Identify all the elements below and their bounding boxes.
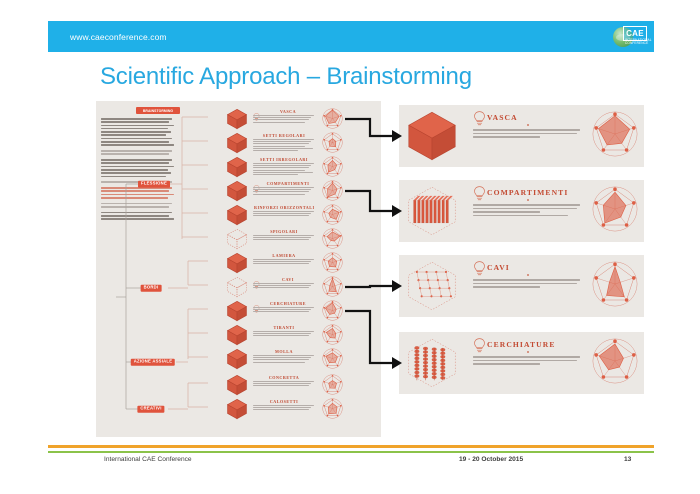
panel-shape-icon bbox=[405, 184, 459, 238]
text-line bbox=[253, 239, 309, 240]
branch-label-azione-assiale[interactable]: AZIONE ASSIALE bbox=[131, 359, 175, 366]
radar-chart bbox=[321, 131, 345, 154]
infographic-item-title: SPIGOLARI bbox=[254, 229, 314, 234]
radar-chart bbox=[321, 107, 345, 130]
text-line bbox=[253, 119, 309, 120]
cube-icon bbox=[226, 132, 248, 153]
infographic-item[interactable]: CERCHIATURE bbox=[226, 299, 381, 323]
branch-label-bordi[interactable]: BORDI bbox=[141, 285, 162, 292]
slide-content: BRAINSTORMING bbox=[96, 101, 644, 437]
infographic-item-title: VASCA bbox=[258, 109, 318, 114]
footer-date: 19 - 20 October 2015 bbox=[459, 456, 523, 463]
text-line bbox=[473, 136, 540, 138]
text-line bbox=[253, 362, 305, 363]
text-line bbox=[473, 360, 577, 362]
text-line bbox=[253, 409, 309, 410]
text-line bbox=[253, 335, 309, 336]
lightbulb-icon bbox=[473, 338, 486, 353]
infographic-item[interactable]: TIRANTI bbox=[226, 323, 381, 347]
infographic-item-title: SETTI IRREGOLARI bbox=[254, 157, 314, 162]
branch-label-flessione[interactable]: FLESSIONE bbox=[138, 181, 170, 188]
text-line bbox=[253, 139, 314, 140]
infographic-item-text bbox=[253, 331, 315, 338]
detail-panel[interactable]: VASCA bbox=[399, 105, 644, 167]
text-line bbox=[253, 333, 311, 334]
text-line bbox=[253, 170, 305, 171]
radar-chart bbox=[321, 251, 345, 274]
text-line bbox=[253, 285, 311, 286]
branch-label-creativi[interactable]: CREATIVI bbox=[137, 406, 164, 413]
cube-icon bbox=[226, 300, 248, 321]
slide-canvas: www.caeconference.com CAE INTERNATIONAL … bbox=[0, 0, 700, 494]
text-line bbox=[253, 259, 314, 260]
text-line bbox=[253, 148, 313, 149]
panel-body-text bbox=[473, 204, 581, 218]
panel-body-text bbox=[473, 129, 581, 140]
infographic-item-text bbox=[253, 139, 315, 152]
text-line bbox=[253, 309, 311, 310]
cube-icon bbox=[226, 276, 248, 297]
footer-page-number: 13 bbox=[624, 456, 631, 463]
infographic-item[interactable]: VASCA bbox=[226, 107, 381, 131]
infographic-item[interactable]: LAMIERA bbox=[226, 251, 381, 275]
text-line bbox=[473, 356, 580, 358]
text-line bbox=[253, 215, 309, 216]
infographic-item-title: COMPARTIMENTI bbox=[258, 181, 318, 186]
radar-chart bbox=[321, 323, 345, 346]
text-line bbox=[253, 165, 311, 166]
text-line bbox=[253, 191, 309, 192]
detail-panel[interactable]: COMPARTIMENTI bbox=[399, 180, 644, 242]
radar-chart bbox=[321, 155, 345, 178]
infographic-item-title: CONCRETTA bbox=[254, 375, 314, 380]
radar-chart bbox=[321, 227, 345, 250]
text-line bbox=[473, 363, 540, 365]
text-line bbox=[253, 359, 309, 360]
text-line bbox=[253, 381, 314, 382]
text-line bbox=[253, 146, 305, 147]
panel-shape-icon bbox=[405, 109, 459, 163]
text-line bbox=[253, 115, 314, 116]
text-line bbox=[253, 331, 314, 332]
text-line bbox=[253, 357, 311, 358]
text-line bbox=[253, 287, 309, 288]
infographic-item-title: MOLLA bbox=[254, 349, 314, 354]
cube-icon bbox=[226, 108, 248, 129]
text-line bbox=[253, 283, 314, 284]
text-line bbox=[253, 122, 305, 123]
text-line bbox=[253, 150, 298, 151]
lightbulb-icon bbox=[473, 111, 486, 126]
text-line bbox=[253, 213, 311, 214]
text-line bbox=[253, 187, 314, 188]
infographic-item-title: CAVI bbox=[258, 277, 318, 282]
infographic-item-text bbox=[253, 259, 315, 266]
cae-logo: CAE INTERNATIONAL CONFERENCE bbox=[612, 24, 646, 50]
text-line bbox=[253, 407, 311, 408]
infographic-item-title: CERCHIATURE bbox=[258, 301, 318, 306]
cube-icon bbox=[226, 204, 248, 225]
panel-title: CAVI bbox=[487, 263, 592, 272]
infographic-item-title: SETTI REGOLARI bbox=[254, 133, 314, 138]
radar-chart bbox=[321, 275, 345, 298]
lightbulb-icon bbox=[473, 186, 486, 201]
text-line bbox=[253, 189, 311, 190]
text-line bbox=[253, 143, 309, 144]
infographic-item-text bbox=[253, 405, 315, 412]
cube-icon bbox=[226, 156, 248, 177]
text-line bbox=[253, 211, 314, 212]
text-line bbox=[253, 235, 314, 236]
infographic-item-title: LAMIERA bbox=[254, 253, 314, 258]
text-line bbox=[253, 163, 314, 164]
infographic-item[interactable]: SETTI IRREGOLARI bbox=[226, 155, 381, 179]
infographic-item[interactable]: CONCRETTA bbox=[226, 373, 381, 397]
cube-icon bbox=[226, 398, 248, 419]
text-line bbox=[253, 141, 311, 142]
detail-panel[interactable]: CAVI bbox=[399, 255, 644, 317]
text-line bbox=[253, 174, 298, 175]
cube-icon bbox=[226, 348, 248, 369]
text-line bbox=[473, 133, 577, 135]
text-line bbox=[253, 167, 309, 168]
radar-chart bbox=[321, 373, 345, 396]
panel-body-text bbox=[473, 279, 581, 290]
detail-panel[interactable]: CERCHIATURE bbox=[399, 332, 644, 394]
infographic-item[interactable]: CAVI bbox=[226, 275, 381, 299]
panel-title: COMPARTIMENTI bbox=[487, 188, 592, 197]
text-line bbox=[253, 263, 309, 264]
text-line bbox=[253, 237, 311, 238]
footer-conference-name: International CAE Conference bbox=[104, 456, 192, 463]
radar-chart bbox=[321, 347, 345, 370]
radar-chart bbox=[321, 179, 345, 202]
panel-title: VASCA bbox=[487, 113, 592, 122]
radar-chart bbox=[589, 183, 641, 238]
panel-title-dot bbox=[527, 199, 529, 201]
radar-chart bbox=[321, 397, 345, 420]
radar-chart bbox=[589, 335, 641, 390]
infographic-item[interactable]: COMPARTIMENTI bbox=[226, 179, 381, 203]
lightbulb-icon bbox=[473, 261, 486, 276]
text-line bbox=[473, 286, 540, 288]
text-line bbox=[473, 211, 540, 213]
panel-shape-icon bbox=[405, 336, 459, 390]
text-line bbox=[473, 279, 580, 281]
cube-icon bbox=[226, 252, 248, 273]
text-line bbox=[253, 307, 314, 308]
infographic-item-text bbox=[253, 115, 315, 124]
panel-title: CERCHIATURE bbox=[487, 340, 592, 349]
cube-icon bbox=[226, 324, 248, 345]
infographic-item-title: TIRANTI bbox=[254, 325, 314, 330]
panel-title-dot bbox=[527, 274, 529, 276]
text-line bbox=[253, 355, 314, 356]
panel-title-dot bbox=[527, 351, 529, 353]
radar-chart bbox=[321, 299, 345, 322]
header-bar: www.caeconference.com CAE INTERNATIONAL … bbox=[48, 21, 654, 52]
radar-chart bbox=[589, 258, 641, 313]
header-url[interactable]: www.caeconference.com bbox=[70, 32, 167, 42]
text-line bbox=[253, 261, 311, 262]
text-line bbox=[253, 385, 309, 386]
infographic-item-text bbox=[253, 381, 315, 388]
infographic-item-text bbox=[253, 307, 315, 314]
infographic-item-text bbox=[253, 283, 315, 290]
footer-rule-green bbox=[48, 451, 654, 454]
text-line bbox=[473, 208, 577, 210]
radar-chart bbox=[321, 203, 345, 226]
infographic-item[interactable]: MOLLA bbox=[226, 347, 381, 371]
infographic-item-text bbox=[253, 211, 315, 218]
text-line bbox=[253, 405, 314, 406]
text-line bbox=[253, 194, 305, 195]
radar-chart bbox=[589, 108, 641, 163]
page-title: Scientific Approach – Brainstorming bbox=[100, 63, 620, 91]
infographic-item[interactable]: SETTI REGOLARI bbox=[226, 131, 381, 155]
infographic-item-title: CALOSETTI bbox=[254, 399, 314, 404]
cube-icon bbox=[226, 228, 248, 249]
footer-rule-orange bbox=[48, 445, 654, 448]
cube-icon bbox=[226, 180, 248, 201]
text-line bbox=[253, 172, 313, 173]
text-line bbox=[253, 311, 309, 312]
text-line bbox=[473, 215, 568, 217]
text-line bbox=[473, 204, 580, 206]
infographic-item[interactable]: RINFORZI ORIZZONTALI bbox=[226, 203, 381, 227]
panel-shape-icon bbox=[405, 259, 459, 313]
infographic-item-text bbox=[253, 355, 315, 364]
text-line bbox=[473, 129, 580, 131]
infographic-item-title: RINFORZI ORIZZONTALI bbox=[254, 205, 314, 210]
panel-body-text bbox=[473, 356, 581, 367]
panel-title-dot bbox=[527, 124, 529, 126]
infographic-item[interactable]: SPIGOLARI bbox=[226, 227, 381, 251]
infographic-item-text bbox=[253, 235, 315, 242]
infographic-item-text bbox=[253, 187, 315, 196]
cube-icon bbox=[226, 374, 248, 395]
infographic-item-text bbox=[253, 163, 315, 176]
infographic-item[interactable]: CALOSETTI bbox=[226, 397, 381, 421]
text-line bbox=[473, 283, 577, 285]
text-line bbox=[253, 117, 311, 118]
text-line bbox=[253, 383, 311, 384]
logo-subtext: INTERNATIONAL CONFERENCE bbox=[625, 39, 644, 46]
